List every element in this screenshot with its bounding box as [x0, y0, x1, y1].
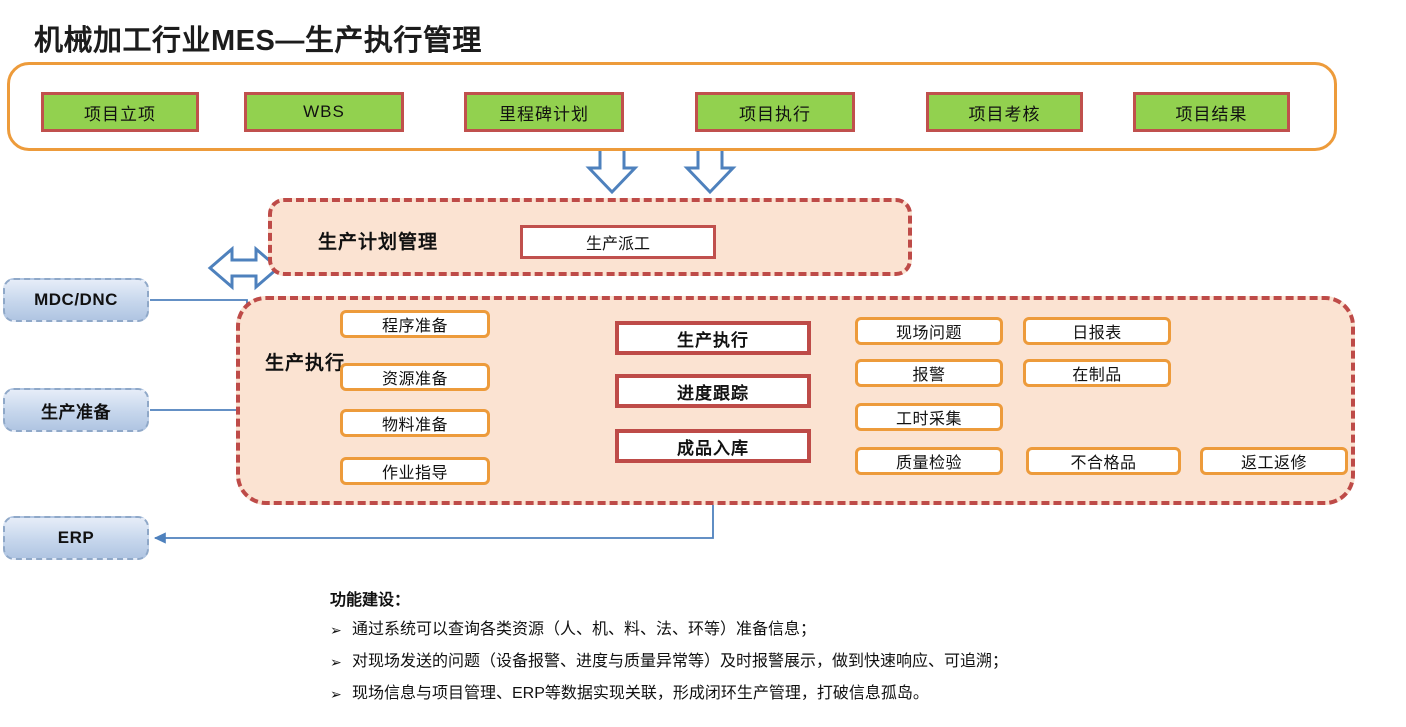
output-label-3: 质量检验 [896, 449, 962, 473]
page-title: 机械加工行业MES—生产执行管理 [34, 17, 482, 59]
lifecycle-label-5: 项目结果 [1176, 100, 1248, 125]
note-item-2: ➢ 现场信息与项目管理、ERP等数据实现关联，形成闭环生产管理，打破信息孤岛。 [330, 684, 1330, 704]
note-item-1: ➢ 对现场发送的问题（设备报警、进度与质量异常等）及时报警展示，做到快速响应、可… [330, 652, 1330, 672]
external-system-production-prep[interactable]: 生产准备 [3, 388, 149, 432]
center-label-1: 进度跟踪 [677, 379, 749, 404]
prep-box-resource[interactable]: 资源准备 [340, 363, 490, 391]
prep-label-1: 资源准备 [382, 365, 448, 389]
center-box-execution[interactable]: 生产执行 [615, 321, 811, 355]
prep-box-work-instruction[interactable]: 作业指导 [340, 457, 490, 485]
lifecycle-item-2[interactable]: 里程碑计划 [464, 92, 624, 132]
lifecycle-item-5[interactable]: 项目结果 [1133, 92, 1290, 132]
lifecycle-item-0[interactable]: 项目立项 [41, 92, 199, 132]
lifecycle-label-1: WBS [303, 102, 345, 122]
center-box-finished-goods-inbound[interactable]: 成品入库 [615, 429, 811, 463]
quality-label-1: 返工返修 [1241, 449, 1307, 473]
note-text-0: 通过系统可以查询各类资源（人、机、料、法、环等）准备信息； [352, 620, 816, 640]
output-label-0: 现场问题 [896, 319, 962, 343]
external-system-mdc-dnc[interactable]: MDC/DNC [3, 278, 149, 322]
output-label-1: 报警 [912, 361, 945, 385]
center-label-0: 生产执行 [677, 326, 749, 351]
output-box-alarm[interactable]: 报警 [855, 359, 1003, 387]
report-box-daily-report[interactable]: 日报表 [1023, 317, 1171, 345]
center-box-progress-tracking[interactable]: 进度跟踪 [615, 374, 811, 408]
lifecycle-label-4: 项目考核 [969, 100, 1041, 125]
lifecycle-item-3[interactable]: 项目执行 [695, 92, 855, 132]
external-label-0: MDC/DNC [34, 290, 118, 310]
prep-label-0: 程序准备 [382, 312, 448, 336]
production-plan-title: 生产计划管理 [318, 227, 438, 254]
notes-section: 功能建设： ➢ 通过系统可以查询各类资源（人、机、料、法、环等）准备信息； ➢ … [330, 586, 1330, 716]
quality-box-rework[interactable]: 返工返修 [1200, 447, 1348, 475]
prep-label-3: 作业指导 [382, 459, 448, 483]
lifecycle-label-2: 里程碑计划 [499, 100, 589, 125]
prep-box-material[interactable]: 物料准备 [340, 409, 490, 437]
note-text-1: 对现场发送的问题（设备报警、进度与质量异常等）及时报警展示，做到快速响应、可追溯… [352, 652, 1008, 672]
production-dispatch-label: 生产派工 [586, 230, 650, 254]
center-label-2: 成品入库 [677, 434, 749, 459]
output-box-labor-hours[interactable]: 工时采集 [855, 403, 1003, 431]
production-execution-title: 生产执行 [265, 348, 345, 375]
notes-heading: 功能建设： [330, 586, 1330, 610]
bullet-arrow-icon-1: ➢ [330, 652, 352, 672]
report-label-0: 日报表 [1072, 319, 1122, 343]
output-box-quality-inspection[interactable]: 质量检验 [855, 447, 1003, 475]
note-text-2: 现场信息与项目管理、ERP等数据实现关联，形成闭环生产管理，打破信息孤岛。 [352, 684, 929, 704]
report-box-wip[interactable]: 在制品 [1023, 359, 1171, 387]
quality-box-nonconforming[interactable]: 不合格品 [1026, 447, 1181, 475]
lifecycle-label-3: 项目执行 [739, 100, 811, 125]
diagram-canvas: 机械加工行业MES—生产执行管理 [0, 0, 1406, 727]
prep-box-program[interactable]: 程序准备 [340, 310, 490, 338]
external-system-erp[interactable]: ERP [3, 516, 149, 560]
production-dispatch-box[interactable]: 生产派工 [520, 225, 716, 259]
note-item-0: ➢ 通过系统可以查询各类资源（人、机、料、法、环等）准备信息； [330, 620, 1330, 640]
external-label-1: 生产准备 [41, 398, 111, 423]
external-label-2: ERP [58, 528, 94, 548]
lifecycle-label-0: 项目立项 [84, 100, 156, 125]
output-box-site-issue[interactable]: 现场问题 [855, 317, 1003, 345]
bullet-arrow-icon-2: ➢ [330, 684, 352, 704]
output-label-2: 工时采集 [896, 405, 962, 429]
quality-label-0: 不合格品 [1070, 449, 1136, 473]
lifecycle-item-4[interactable]: 项目考核 [926, 92, 1083, 132]
report-label-1: 在制品 [1072, 361, 1122, 385]
bullet-arrow-icon-0: ➢ [330, 620, 352, 640]
prep-label-2: 物料准备 [382, 411, 448, 435]
lifecycle-item-1[interactable]: WBS [244, 92, 404, 132]
